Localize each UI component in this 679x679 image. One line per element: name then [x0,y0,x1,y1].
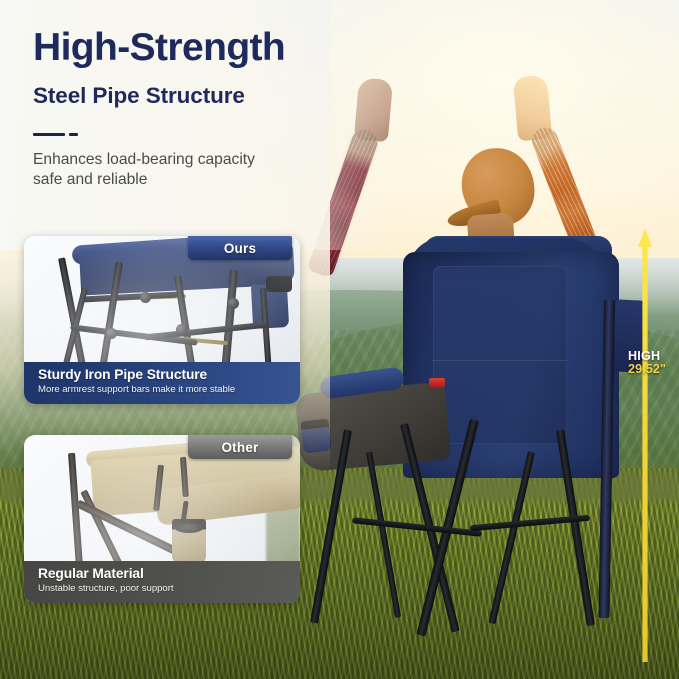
height-label-text: HIGH [628,350,679,363]
red-clip-detail [429,378,445,387]
other-cup-holder [172,519,206,563]
ours-pipe-joint [140,292,151,303]
ours-pipe-joint [228,298,239,309]
divider-dash-long [33,133,65,136]
divider [33,133,333,136]
ours-caption-title: Sturdy Iron Pipe Structure [38,367,300,382]
feature-description: Enhances load-bearing capacity safe and … [33,150,333,191]
other-caption-bar: Regular Material Unstable structure, poo… [24,561,300,603]
chair-cross-brace [352,517,482,537]
headline-block: High-Strength Steel Pipe Structure Enhan… [33,28,333,206]
ours-caption-bar: Sturdy Iron Pipe Structure More armrest … [24,362,300,404]
ours-cup-holder [266,276,292,292]
divider-dash-short [69,133,78,136]
height-measurement-label: HIGH 29.52" [628,350,679,377]
ours-support-bar [144,322,268,341]
ours-caption-subtitle: More armrest support bars make it more s… [38,384,300,395]
other-caption-subtitle: Unstable structure, poor support [38,583,300,594]
badge-other: Other [188,435,292,459]
height-arrow-icon [638,228,652,662]
height-value-text: 29.52" [628,363,679,376]
badge-ours: Ours [188,236,292,260]
comparison-panel-ours: Ours Sturdy Iron Pipe Structure More arm… [24,236,300,404]
comparison-panel-other: Other Regular Material Unstable structur… [24,435,300,603]
chair-cup-holder [300,419,331,454]
ours-pipe-joint [106,328,117,339]
other-caption-title: Regular Material [38,566,300,581]
ours-pipe-joint [176,324,187,335]
page-title: High-Strength [33,28,333,69]
chair-leg [366,451,401,617]
product-feature-image: High-Strength Steel Pipe Structure Enhan… [0,0,679,679]
page-subtitle: Steel Pipe Structure [33,83,333,109]
